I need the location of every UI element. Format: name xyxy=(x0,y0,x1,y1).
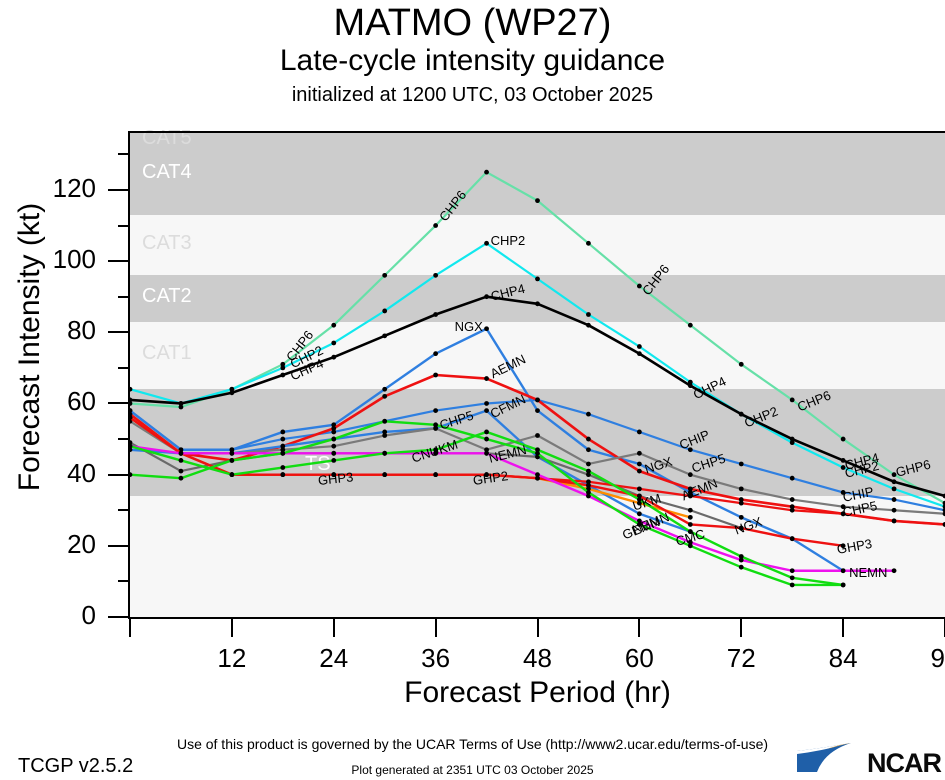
data-point xyxy=(637,486,642,491)
data-point xyxy=(331,444,336,449)
x-tick xyxy=(333,617,335,637)
data-point xyxy=(331,451,336,456)
data-point xyxy=(130,472,132,477)
page-subtitle: Late-cycle intensity guidance xyxy=(0,44,945,78)
data-point xyxy=(484,326,489,331)
plot-border-top xyxy=(128,131,945,133)
data-point xyxy=(739,501,744,506)
data-point xyxy=(892,497,897,502)
data-point xyxy=(280,365,285,370)
data-point xyxy=(739,362,744,367)
data-point xyxy=(484,430,489,435)
data-point xyxy=(484,241,489,246)
data-point xyxy=(382,472,387,477)
data-point xyxy=(586,469,591,474)
data-point xyxy=(382,387,387,392)
ncar-wordmark: NCAR xyxy=(867,748,941,779)
y-tick-label: 0 xyxy=(26,600,96,631)
data-point xyxy=(382,333,387,338)
y-tick-label: 120 xyxy=(26,173,96,204)
data-point xyxy=(382,433,387,438)
data-point xyxy=(179,458,184,463)
data-point xyxy=(433,408,438,413)
x-tick xyxy=(638,617,640,637)
chart-canvas: MATMO (WP27) Late-cycle intensity guidan… xyxy=(0,0,945,780)
series-cfmn xyxy=(130,408,693,534)
data-point xyxy=(535,198,540,203)
page-title: MATMO (WP27) xyxy=(0,2,945,45)
data-point xyxy=(331,437,336,442)
data-point xyxy=(637,451,642,456)
data-point xyxy=(179,476,184,481)
data-point xyxy=(535,447,540,452)
series-chp5 xyxy=(130,419,945,516)
series-chp2 xyxy=(130,241,945,509)
data-point xyxy=(892,568,897,573)
data-point xyxy=(790,536,795,541)
x-tick xyxy=(231,617,233,637)
data-point xyxy=(535,301,540,306)
y-tick-minor xyxy=(118,367,130,369)
y-tick-label: 20 xyxy=(26,529,96,560)
data-point xyxy=(331,341,336,346)
y-tick-label: 60 xyxy=(26,386,96,417)
y-tick-major xyxy=(108,616,130,618)
data-point xyxy=(433,273,438,278)
data-point xyxy=(484,294,489,299)
series-label-ngx: NGX xyxy=(455,319,483,334)
data-point xyxy=(586,312,591,317)
y-tick-major xyxy=(108,402,130,404)
data-point xyxy=(535,433,540,438)
x-tick-label: 72 xyxy=(706,643,776,674)
series-label-chp2: CHP2 xyxy=(491,233,526,248)
x-tick xyxy=(129,617,131,637)
data-point xyxy=(586,412,591,417)
x-tick-label: 48 xyxy=(503,643,573,674)
data-point xyxy=(484,437,489,442)
data-point xyxy=(637,351,642,356)
data-point xyxy=(688,522,693,527)
data-point xyxy=(382,273,387,278)
data-point xyxy=(586,241,591,246)
data-point xyxy=(841,437,846,442)
data-point xyxy=(280,451,285,456)
data-point xyxy=(739,554,744,559)
x-tick xyxy=(740,617,742,637)
data-point xyxy=(841,583,846,588)
data-point xyxy=(586,479,591,484)
series-label-nemn: NEMN xyxy=(849,565,887,580)
data-point xyxy=(331,458,336,463)
x-tick xyxy=(435,617,437,637)
y-tick-minor xyxy=(118,296,130,298)
data-point xyxy=(790,583,795,588)
initialization-time: initialized at 1200 UTC, 03 October 2025 xyxy=(0,84,945,107)
data-point xyxy=(179,401,184,406)
data-point xyxy=(790,568,795,573)
series-line xyxy=(130,411,690,532)
data-point xyxy=(892,519,897,524)
data-point xyxy=(229,451,234,456)
data-point xyxy=(484,170,489,175)
data-point xyxy=(790,398,795,403)
data-point xyxy=(790,508,795,513)
y-tick-label: 100 xyxy=(26,244,96,275)
y-tick-label: 80 xyxy=(26,315,96,346)
data-point xyxy=(280,437,285,442)
data-point xyxy=(892,479,897,484)
y-tick-minor xyxy=(118,580,130,582)
data-point xyxy=(433,223,438,228)
data-point xyxy=(280,465,285,470)
y-tick-major xyxy=(108,331,130,333)
y-tick-minor xyxy=(118,225,130,227)
x-tick-label: 36 xyxy=(401,643,471,674)
data-point xyxy=(535,408,540,413)
data-point xyxy=(229,472,234,477)
data-point xyxy=(688,323,693,328)
data-point xyxy=(637,430,642,435)
data-point xyxy=(637,344,642,349)
data-point xyxy=(179,469,184,474)
y-tick-minor xyxy=(118,438,130,440)
data-point xyxy=(382,309,387,314)
data-point xyxy=(892,486,897,491)
data-point xyxy=(130,398,132,403)
data-point xyxy=(688,508,693,513)
x-tick-label: 84 xyxy=(808,643,878,674)
data-point xyxy=(433,472,438,477)
data-point xyxy=(739,565,744,570)
version-label: TCGP v2.5.2 xyxy=(18,755,133,778)
data-point xyxy=(841,568,846,573)
data-point xyxy=(382,419,387,424)
data-point xyxy=(331,426,336,431)
data-point xyxy=(739,486,744,491)
data-point xyxy=(586,437,591,442)
data-point xyxy=(535,277,540,282)
y-tick-major xyxy=(108,545,130,547)
data-point xyxy=(484,376,489,381)
y-tick-major xyxy=(108,474,130,476)
data-point xyxy=(280,373,285,378)
data-point xyxy=(586,462,591,467)
data-point xyxy=(331,323,336,328)
data-point xyxy=(280,430,285,435)
data-point xyxy=(739,462,744,467)
data-point xyxy=(586,323,591,328)
data-point xyxy=(790,497,795,502)
data-point xyxy=(586,490,591,495)
data-point xyxy=(892,508,897,513)
series-label-ghp3: GHP3 xyxy=(317,469,354,488)
y-tick-major xyxy=(108,260,130,262)
data-point xyxy=(433,351,438,356)
data-point xyxy=(229,390,234,395)
data-point xyxy=(688,472,693,477)
data-point xyxy=(790,575,795,580)
data-point xyxy=(433,373,438,378)
y-tick-minor xyxy=(118,509,130,511)
x-tick-label: 60 xyxy=(604,643,674,674)
data-point xyxy=(484,401,489,406)
data-point xyxy=(229,458,234,463)
data-point xyxy=(637,469,642,474)
data-point xyxy=(688,515,693,520)
y-tick-major xyxy=(108,189,130,191)
data-point xyxy=(535,472,540,477)
data-point xyxy=(637,462,642,467)
x-tick xyxy=(842,617,844,637)
data-point xyxy=(179,451,184,456)
x-tick-label: 12 xyxy=(197,643,267,674)
data-point xyxy=(433,312,438,317)
y-tick-minor xyxy=(118,153,130,155)
x-tick xyxy=(537,617,539,637)
x-axis-label: Forecast Period (hr) xyxy=(130,676,945,710)
y-tick-label: 40 xyxy=(26,458,96,489)
data-point xyxy=(586,447,591,452)
data-point xyxy=(280,472,285,477)
series-line xyxy=(130,243,945,506)
data-point xyxy=(331,355,336,360)
data-point xyxy=(382,451,387,456)
data-point xyxy=(790,476,795,481)
data-point xyxy=(790,437,795,442)
ncar-logo-icon xyxy=(795,742,857,776)
data-point xyxy=(382,394,387,399)
data-point xyxy=(535,398,540,403)
plot-area: TSCAT1CAT2CAT3CAT4CAT5CHP6CHP6CHP6CHP6GH… xyxy=(130,133,945,617)
series-layer xyxy=(130,133,945,617)
data-point xyxy=(433,422,438,427)
x-tick-label: 96 xyxy=(910,643,945,674)
x-tick-label: 24 xyxy=(299,643,369,674)
